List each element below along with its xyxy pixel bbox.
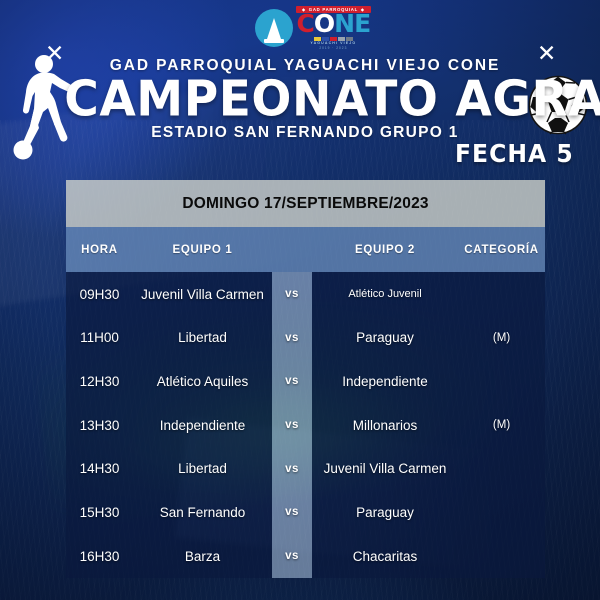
schedule-table-body: DOMINGO 17/SEPTIEMBRE/2023 HORA EQUIPO 1…	[66, 180, 545, 578]
cell-categoria	[458, 534, 545, 578]
cell-equipo1: Independiente	[133, 403, 272, 447]
cell-categoria	[458, 360, 545, 404]
table-row: 11H00 Libertad vs Paraguay (M)	[66, 316, 545, 360]
cell-equipo1: Libertad	[133, 447, 272, 491]
x-mark-icon-right: ✕	[537, 42, 556, 65]
cell-hora: 11H00	[66, 316, 133, 360]
column-header-equipo2: EQUIPO 2	[312, 227, 458, 272]
matchday-label: FECHA 5	[455, 140, 574, 169]
logo-wordmark: ◆ GAD PARROQUIAL ◆ CONE YAGUACHI VIEJO 2…	[296, 6, 371, 50]
logo-letter-c: C	[297, 9, 314, 38]
logo-subtitle-2: 2019 · 2023	[319, 47, 347, 50]
cell-equipo1: San Fernando	[133, 491, 272, 535]
cell-hora: 16H30	[66, 534, 133, 578]
table-row: 12H30 Atlético Aquiles vs Independiente	[66, 360, 545, 404]
logo-word: CONE	[297, 12, 371, 36]
cell-equipo1: Juvenil Villa Carmen	[133, 272, 272, 316]
column-header-vs	[272, 227, 312, 272]
cell-vs: vs	[272, 534, 312, 578]
cell-equipo1: Barza	[133, 534, 272, 578]
cell-equipo2: Paraguay	[312, 491, 458, 535]
date-header-row: DOMINGO 17/SEPTIEMBRE/2023	[66, 180, 545, 227]
column-header-hora: HORA	[66, 227, 133, 272]
page-title: CAMPEONATO AGRARIO	[64, 75, 546, 123]
cell-equipo1: Libertad	[133, 316, 272, 360]
cell-categoria: (M)	[458, 403, 545, 447]
column-header-equipo1: EQUIPO 1	[133, 227, 272, 272]
cell-vs: vs	[272, 491, 312, 535]
column-header-categoria: CATEGORÍA	[458, 227, 545, 272]
cell-equipo2: Atlético Juvenil	[312, 272, 458, 316]
cell-categoria	[458, 491, 545, 535]
cell-hora: 13H30	[66, 403, 133, 447]
title-block: GAD PARROQUIAL YAGUACHI VIEJO CONE CAMPE…	[80, 58, 530, 142]
column-header-row: HORA EQUIPO 1 EQUIPO 2 CATEGORÍA	[66, 227, 545, 272]
table-row: 15H30 San Fernando vs Paraguay	[66, 491, 545, 535]
cell-vs: vs	[272, 360, 312, 404]
cell-categoria	[458, 447, 545, 491]
logo-color-bars	[314, 37, 353, 41]
cone-monument-icon	[255, 9, 293, 47]
cell-equipo1: Atlético Aquiles	[133, 360, 272, 404]
cell-vs: vs	[272, 316, 312, 360]
cell-vs: vs	[272, 272, 312, 316]
cell-hora: 15H30	[66, 491, 133, 535]
cell-equipo2: Juvenil Villa Carmen	[312, 447, 458, 491]
cell-equipo2: Paraguay	[312, 316, 458, 360]
cell-vs: vs	[272, 447, 312, 491]
date-label: DOMINGO 17/SEPTIEMBRE/2023	[66, 180, 545, 227]
table-row: 13H30 Independiente vs Millonarios (M)	[66, 403, 545, 447]
cell-categoria: (M)	[458, 316, 545, 360]
table-row: 09H30 Juvenil Villa Carmen vs Atlético J…	[66, 272, 545, 316]
cell-vs: vs	[272, 403, 312, 447]
cell-equipo2: Independiente	[312, 360, 458, 404]
table-row: 16H30 Barza vs Chacaritas	[66, 534, 545, 578]
cell-hora: 14H30	[66, 447, 133, 491]
logo-letter-n: N	[334, 9, 354, 38]
cell-equipo2: Millonarios	[312, 403, 458, 447]
cell-hora: 09H30	[66, 272, 133, 316]
cone-logo: ◆ GAD PARROQUIAL ◆ CONE YAGUACHI VIEJO 2…	[255, 2, 380, 54]
table-row: 14H30 Libertad vs Juvenil Villa Carmen	[66, 447, 545, 491]
poster-canvas: ◆ GAD PARROQUIAL ◆ CONE YAGUACHI VIEJO 2…	[0, 0, 600, 600]
logo-letter-e: E	[354, 9, 370, 38]
schedule-table: DOMINGO 17/SEPTIEMBRE/2023 HORA EQUIPO 1…	[66, 180, 545, 578]
cell-hora: 12H30	[66, 360, 133, 404]
cell-equipo2: Chacaritas	[312, 534, 458, 578]
cell-categoria	[458, 272, 545, 316]
logo-letter-o: O	[314, 9, 334, 38]
